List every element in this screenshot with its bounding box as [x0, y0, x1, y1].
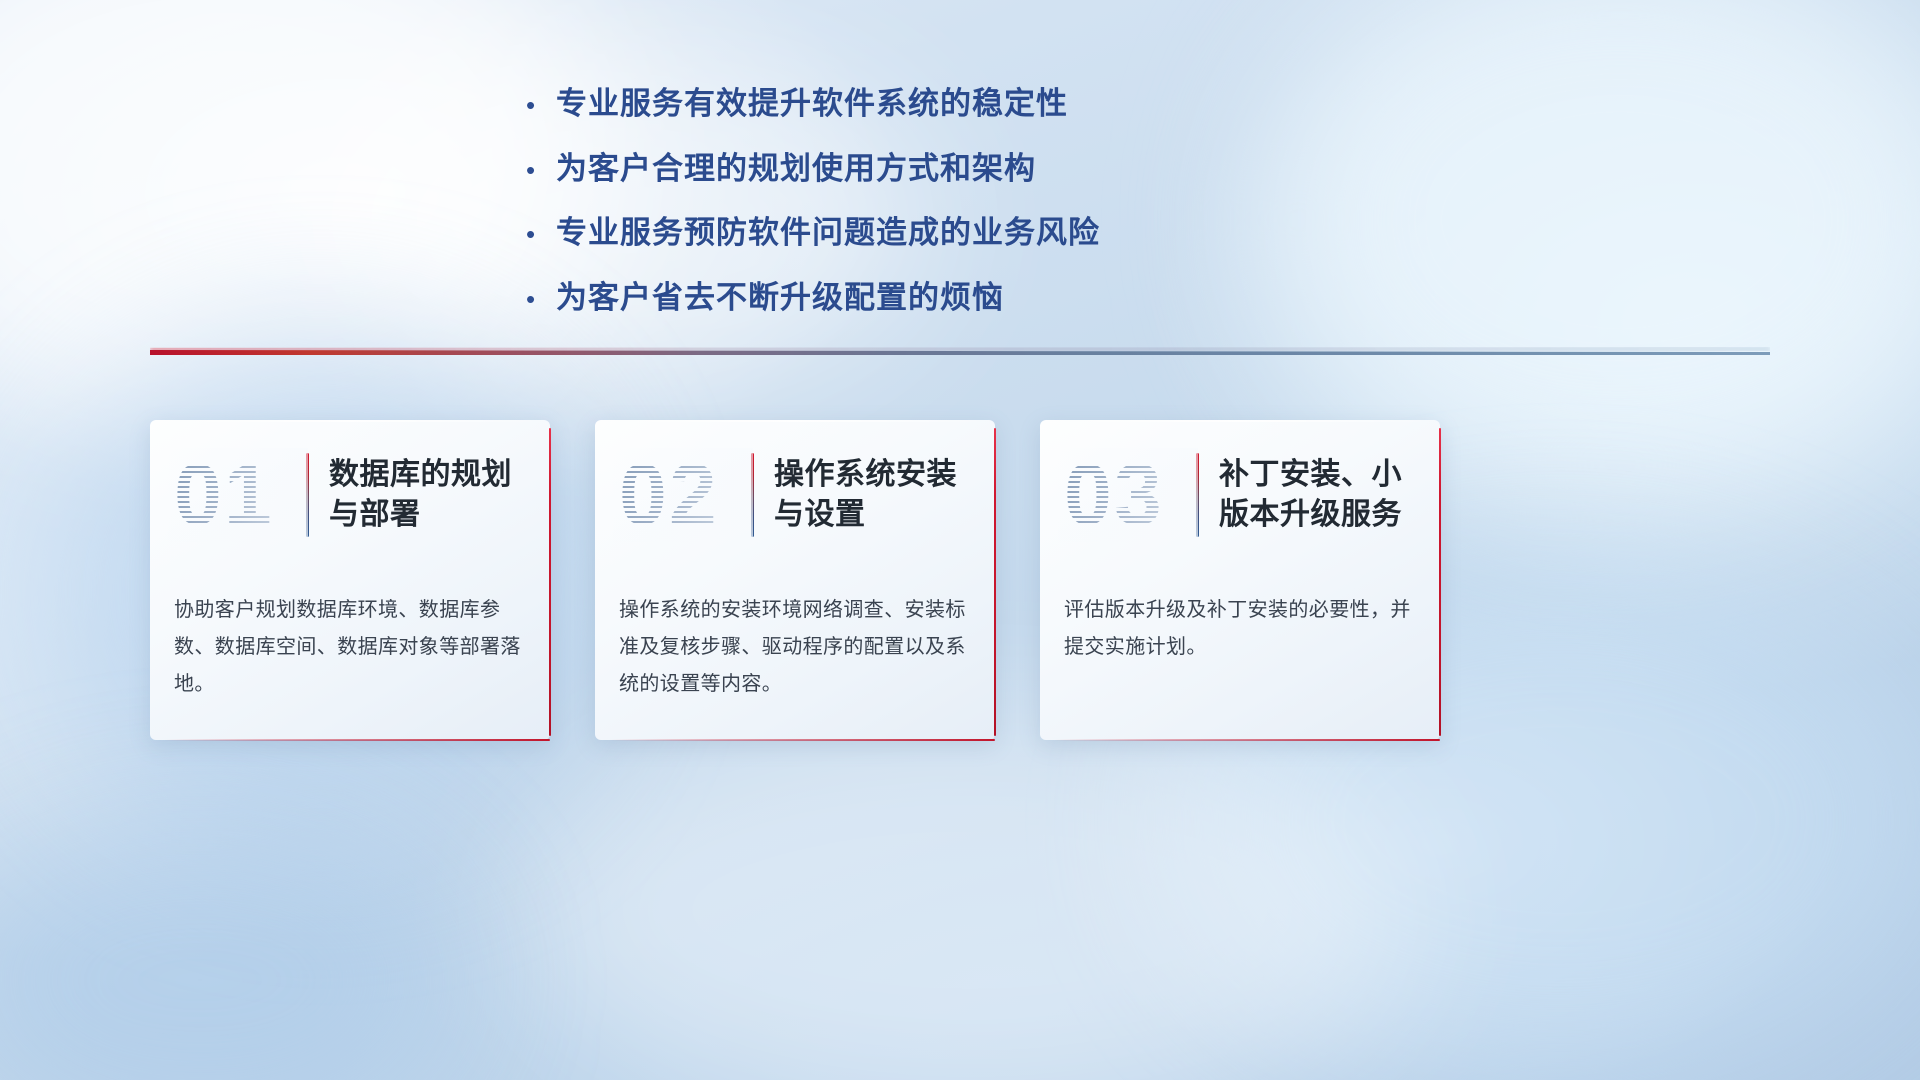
card-title-divider	[306, 453, 309, 537]
card-body-text: 协助客户规划数据库环境、数据库参数、数据库空间、数据库对象等部署落地。	[150, 570, 550, 703]
bullet-dot-icon: •	[520, 92, 556, 118]
card-header: 01 数据库的规划与部署	[150, 420, 550, 570]
service-card[interactable]: 03 补丁安装、小版本升级服务 评估版本升级及补丁安装的必要性，并提交实施计划。	[1040, 420, 1440, 740]
list-item: • 专业服务有效提升软件系统的稳定性	[520, 86, 1420, 123]
service-card[interactable]: 01 数据库的规划与部署 协助客户规划数据库环境、数据库参数、数据库空间、数据库…	[150, 420, 550, 740]
background-glow-bottom-left	[0, 820, 460, 1080]
list-item: • 专业服务预防软件问题造成的业务风险	[520, 215, 1420, 252]
service-card-group: 01 数据库的规划与部署 协助客户规划数据库环境、数据库参数、数据库空间、数据库…	[150, 420, 1770, 750]
card-accent-bottom	[164, 739, 550, 742]
card-title-divider	[1196, 453, 1199, 537]
card-title: 操作系统安装与设置	[774, 455, 973, 534]
background-glow-top-left	[0, 0, 600, 440]
card-accent-bottom	[609, 739, 995, 742]
bullet-text: 专业服务有效提升软件系统的稳定性	[556, 86, 1068, 123]
card-number: 03	[1064, 452, 1192, 538]
benefits-bullet-list: • 专业服务有效提升软件系统的稳定性 • 为客户合理的规划使用方式和架构 • 专…	[520, 86, 1420, 344]
card-body-text: 评估版本升级及补丁安装的必要性，并提交实施计划。	[1040, 570, 1440, 666]
service-card[interactable]: 02 操作系统安装与设置 操作系统的安装环境网络调查、安装标准及复核步骤、驱动程…	[595, 420, 995, 740]
card-title: 补丁安装、小版本升级服务	[1219, 455, 1418, 534]
list-item: • 为客户省去不断升级配置的烦恼	[520, 280, 1420, 317]
card-number: 01	[174, 452, 302, 538]
background-glow-bottom-center	[520, 700, 1420, 1080]
card-header: 02 操作系统安装与设置	[595, 420, 995, 570]
card-title: 数据库的规划与部署	[329, 455, 528, 534]
bullet-dot-icon: •	[520, 286, 556, 312]
bullet-text: 为客户合理的规划使用方式和架构	[556, 151, 1036, 188]
list-item: • 为客户合理的规划使用方式和架构	[520, 151, 1420, 188]
card-number: 02	[619, 452, 747, 538]
bullet-text: 专业服务预防软件问题造成的业务风险	[556, 215, 1100, 252]
card-accent-bottom	[1054, 739, 1440, 742]
bullet-text: 为客户省去不断升级配置的烦恼	[556, 280, 1004, 317]
slide-canvas: • 专业服务有效提升软件系统的稳定性 • 为客户合理的规划使用方式和架构 • 专…	[0, 0, 1920, 1080]
card-body-text: 操作系统的安装环境网络调查、安装标准及复核步骤、驱动程序的配置以及系统的设置等内…	[595, 570, 995, 703]
card-header: 03 补丁安装、小版本升级服务	[1040, 420, 1440, 570]
card-title-divider	[751, 453, 754, 537]
section-divider	[150, 344, 1770, 366]
bullet-dot-icon: •	[520, 221, 556, 247]
bullet-dot-icon: •	[520, 157, 556, 183]
